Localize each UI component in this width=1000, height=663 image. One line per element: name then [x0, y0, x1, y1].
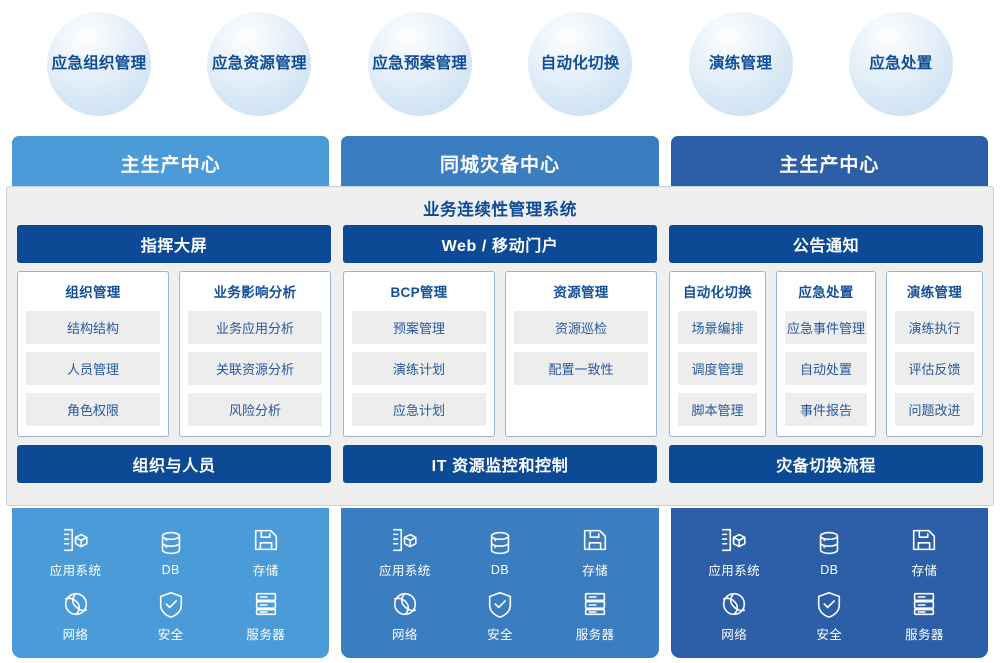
- top-bar-row: 指挥大屏Web / 移动门户公告通知: [17, 225, 983, 263]
- infrastructure-item-label: 存储: [912, 560, 938, 579]
- capability-circle-2[interactable]: 应急资源管理: [207, 12, 311, 116]
- infrastructure-item[interactable]: 安全: [485, 589, 515, 643]
- module-card[interactable]: 业务影响分析业务应用分析关联资源分析风险分析: [179, 271, 331, 437]
- infrastructure-item[interactable]: 存储: [251, 525, 281, 579]
- module-card-item[interactable]: 脚本管理: [678, 393, 757, 426]
- module-groups-row: 组织管理结构结构人员管理角色权限业务影响分析业务应用分析关联资源分析风险分析BC…: [17, 271, 983, 437]
- module-card[interactable]: 组织管理结构结构人员管理角色权限: [17, 271, 169, 437]
- application-system-icon: [390, 525, 420, 555]
- infrastructure-item-label: 服务器: [576, 624, 615, 643]
- infrastructure-item-label: 网络: [63, 624, 89, 643]
- infrastructure-panel-3: 应用系统DB存储网络安全服务器: [671, 508, 988, 658]
- capability-circle-label: 演练管理: [709, 54, 772, 74]
- module-card-item[interactable]: 配置一致性: [514, 352, 648, 385]
- module-card[interactable]: 应急处置应急事件管理自动处置事件报告: [776, 271, 876, 437]
- module-card-title: BCP管理: [352, 281, 486, 301]
- infrastructure-panel-2: 应用系统DB存储网络安全服务器: [341, 508, 658, 658]
- module-card-item[interactable]: 业务应用分析: [188, 311, 322, 344]
- module-card-item[interactable]: 风险分析: [188, 393, 322, 426]
- application-system-icon: [61, 525, 91, 555]
- module-card-title: 应急处置: [785, 281, 867, 301]
- module-card-title: 演练管理: [895, 281, 974, 301]
- data-center-tab-3[interactable]: 主生产中心: [671, 136, 988, 190]
- bottom-module-bar-1[interactable]: 组织与人员: [17, 445, 331, 483]
- infrastructure-item[interactable]: 应用系统: [708, 525, 760, 579]
- infrastructure-item-label: 服务器: [905, 624, 944, 643]
- infrastructure-item-label: DB: [820, 563, 838, 577]
- capability-circle-label: 管理: [115, 54, 147, 74]
- infrastructure-panels-row: 应用系统DB存储网络安全服务器应用系统DB存储网络安全服务器应用系统DB存储网络…: [0, 508, 1000, 658]
- infrastructure-item-label: 安全: [158, 624, 184, 643]
- top-module-bar-1[interactable]: 指挥大屏: [17, 225, 331, 263]
- module-card[interactable]: 演练管理演练执行评估反馈问题改进: [886, 271, 983, 437]
- server-rack-icon: [580, 589, 610, 619]
- module-card-item[interactable]: 预案管理: [352, 311, 486, 344]
- security-shield-icon: [485, 589, 515, 619]
- module-group-3: 自动化切换场景编排调度管理脚本管理应急处置应急事件管理自动处置事件报告演练管理演…: [669, 271, 983, 437]
- bottom-module-bar-3[interactable]: 灾备切换流程: [669, 445, 983, 483]
- infrastructure-panel-1: 应用系统DB存储网络安全服务器: [12, 508, 329, 658]
- database-icon: [156, 528, 186, 558]
- top-module-bar-3[interactable]: 公告通知: [669, 225, 983, 263]
- capability-circle-label: 应急处置: [869, 54, 932, 74]
- infrastructure-item[interactable]: 应用系统: [50, 525, 102, 579]
- security-shield-icon: [156, 589, 186, 619]
- infrastructure-item-label: DB: [162, 563, 180, 577]
- module-card-item[interactable]: 资源巡检: [514, 311, 648, 344]
- infrastructure-item[interactable]: DB: [485, 528, 515, 577]
- module-card-item[interactable]: 场景编排: [678, 311, 757, 344]
- infrastructure-item-label: 网络: [721, 624, 747, 643]
- infrastructure-item[interactable]: DB: [814, 528, 844, 577]
- database-icon: [485, 528, 515, 558]
- module-card[interactable]: 自动化切换场景编排调度管理脚本管理: [669, 271, 766, 437]
- module-card-item[interactable]: 演练执行: [895, 311, 974, 344]
- infrastructure-item[interactable]: 网络: [390, 589, 420, 643]
- data-center-tab-1[interactable]: 主生产中心: [12, 136, 329, 190]
- bottom-bar-row: 组织与人员IT 资源监控和控制灾备切换流程: [17, 445, 983, 483]
- module-card-title: 业务影响分析: [188, 281, 322, 301]
- module-card[interactable]: BCP管理预案管理演练计划应急计划: [343, 271, 495, 437]
- infrastructure-item-label: 应用系统: [50, 560, 102, 579]
- storage-icon: [580, 525, 610, 555]
- module-group-2: BCP管理预案管理演练计划应急计划资源管理资源巡检配置一致性: [343, 271, 657, 437]
- server-rack-icon: [251, 589, 281, 619]
- module-card-title: 自动化切换: [678, 281, 757, 301]
- database-icon: [814, 528, 844, 558]
- infrastructure-item[interactable]: 安全: [156, 589, 186, 643]
- capability-circle-label: 管理: [275, 54, 307, 74]
- module-card-item[interactable]: 关联资源分析: [188, 352, 322, 385]
- module-card-title: 组织管理: [26, 281, 160, 301]
- infrastructure-item[interactable]: 应用系统: [379, 525, 431, 579]
- capability-circle-3[interactable]: 应急预案管理: [368, 12, 472, 116]
- page-title: 业务连续性管理系统: [17, 195, 983, 225]
- capability-circle-label: 应急资源: [212, 54, 275, 74]
- network-globe-icon: [719, 589, 749, 619]
- module-card-item[interactable]: 调度管理: [678, 352, 757, 385]
- capability-circle-6[interactable]: 应急处置: [849, 12, 953, 116]
- module-card-title: 资源管理: [514, 281, 648, 301]
- infrastructure-item[interactable]: 存储: [580, 525, 610, 579]
- infrastructure-item-label: 服务器: [246, 624, 285, 643]
- infrastructure-item[interactable]: 服务器: [576, 589, 615, 643]
- infrastructure-item[interactable]: 服务器: [246, 589, 285, 643]
- infrastructure-item-label: 存储: [253, 560, 279, 579]
- infrastructure-item-label: 安全: [487, 624, 513, 643]
- capability-circle-4[interactable]: 自动化切换: [528, 12, 632, 116]
- module-card-item[interactable]: 问题改进: [895, 393, 974, 426]
- security-shield-icon: [814, 589, 844, 619]
- capability-circle-label: 自动化切换: [541, 54, 620, 74]
- module-card-item[interactable]: 自动处置: [785, 352, 867, 385]
- infrastructure-item-label: 网络: [392, 624, 418, 643]
- data-center-tab-2[interactable]: 同城灾备中心: [341, 136, 658, 190]
- module-card-item[interactable]: 评估反馈: [895, 352, 974, 385]
- storage-icon: [909, 525, 939, 555]
- module-card-item[interactable]: 结构结构: [26, 311, 160, 344]
- top-module-bar-2[interactable]: Web / 移动门户: [343, 225, 657, 263]
- storage-icon: [251, 525, 281, 555]
- capability-circles-row: 应急组织管理应急资源管理应急预案管理自动化切换演练管理应急处置: [0, 0, 1000, 128]
- infrastructure-item-label: DB: [491, 563, 509, 577]
- module-card-item[interactable]: 人员管理: [26, 352, 160, 385]
- capability-circle-5[interactable]: 演练管理: [689, 12, 793, 116]
- server-rack-icon: [909, 589, 939, 619]
- network-globe-icon: [390, 589, 420, 619]
- module-card-item[interactable]: 角色权限: [26, 393, 160, 426]
- infrastructure-item[interactable]: 存储: [909, 525, 939, 579]
- capability-circle-label: 管理: [436, 54, 468, 74]
- infrastructure-item-label: 应用系统: [708, 560, 760, 579]
- bottom-module-bar-2[interactable]: IT 资源监控和控制: [343, 445, 657, 483]
- infrastructure-item[interactable]: 安全: [814, 589, 844, 643]
- infrastructure-item-label: 应用系统: [379, 560, 431, 579]
- module-card-item[interactable]: 应急计划: [352, 393, 486, 426]
- infrastructure-item-label: 存储: [582, 560, 608, 579]
- infrastructure-item[interactable]: 服务器: [905, 589, 944, 643]
- infrastructure-item-label: 安全: [816, 624, 842, 643]
- infrastructure-item[interactable]: DB: [156, 528, 186, 577]
- module-card[interactable]: 资源管理资源巡检配置一致性: [505, 271, 657, 437]
- module-card-item[interactable]: 演练计划: [352, 352, 486, 385]
- capability-circle-1[interactable]: 应急组织管理: [47, 12, 151, 116]
- capability-circle-label: 应急组织: [52, 54, 115, 74]
- module-group-1: 组织管理结构结构人员管理角色权限业务影响分析业务应用分析关联资源分析风险分析: [17, 271, 331, 437]
- bcm-system-panel: 业务连续性管理系统 指挥大屏Web / 移动门户公告通知 组织管理结构结构人员管…: [6, 186, 994, 506]
- module-card-item[interactable]: 应急事件管理: [785, 311, 867, 344]
- network-globe-icon: [61, 589, 91, 619]
- data-center-tabs-row: 主生产中心同城灾备中心主生产中心: [0, 136, 1000, 190]
- module-card-item[interactable]: 事件报告: [785, 393, 867, 426]
- infrastructure-item[interactable]: 网络: [61, 589, 91, 643]
- infrastructure-item[interactable]: 网络: [719, 589, 749, 643]
- application-system-icon: [719, 525, 749, 555]
- capability-circle-label: 应急预案: [372, 54, 435, 74]
